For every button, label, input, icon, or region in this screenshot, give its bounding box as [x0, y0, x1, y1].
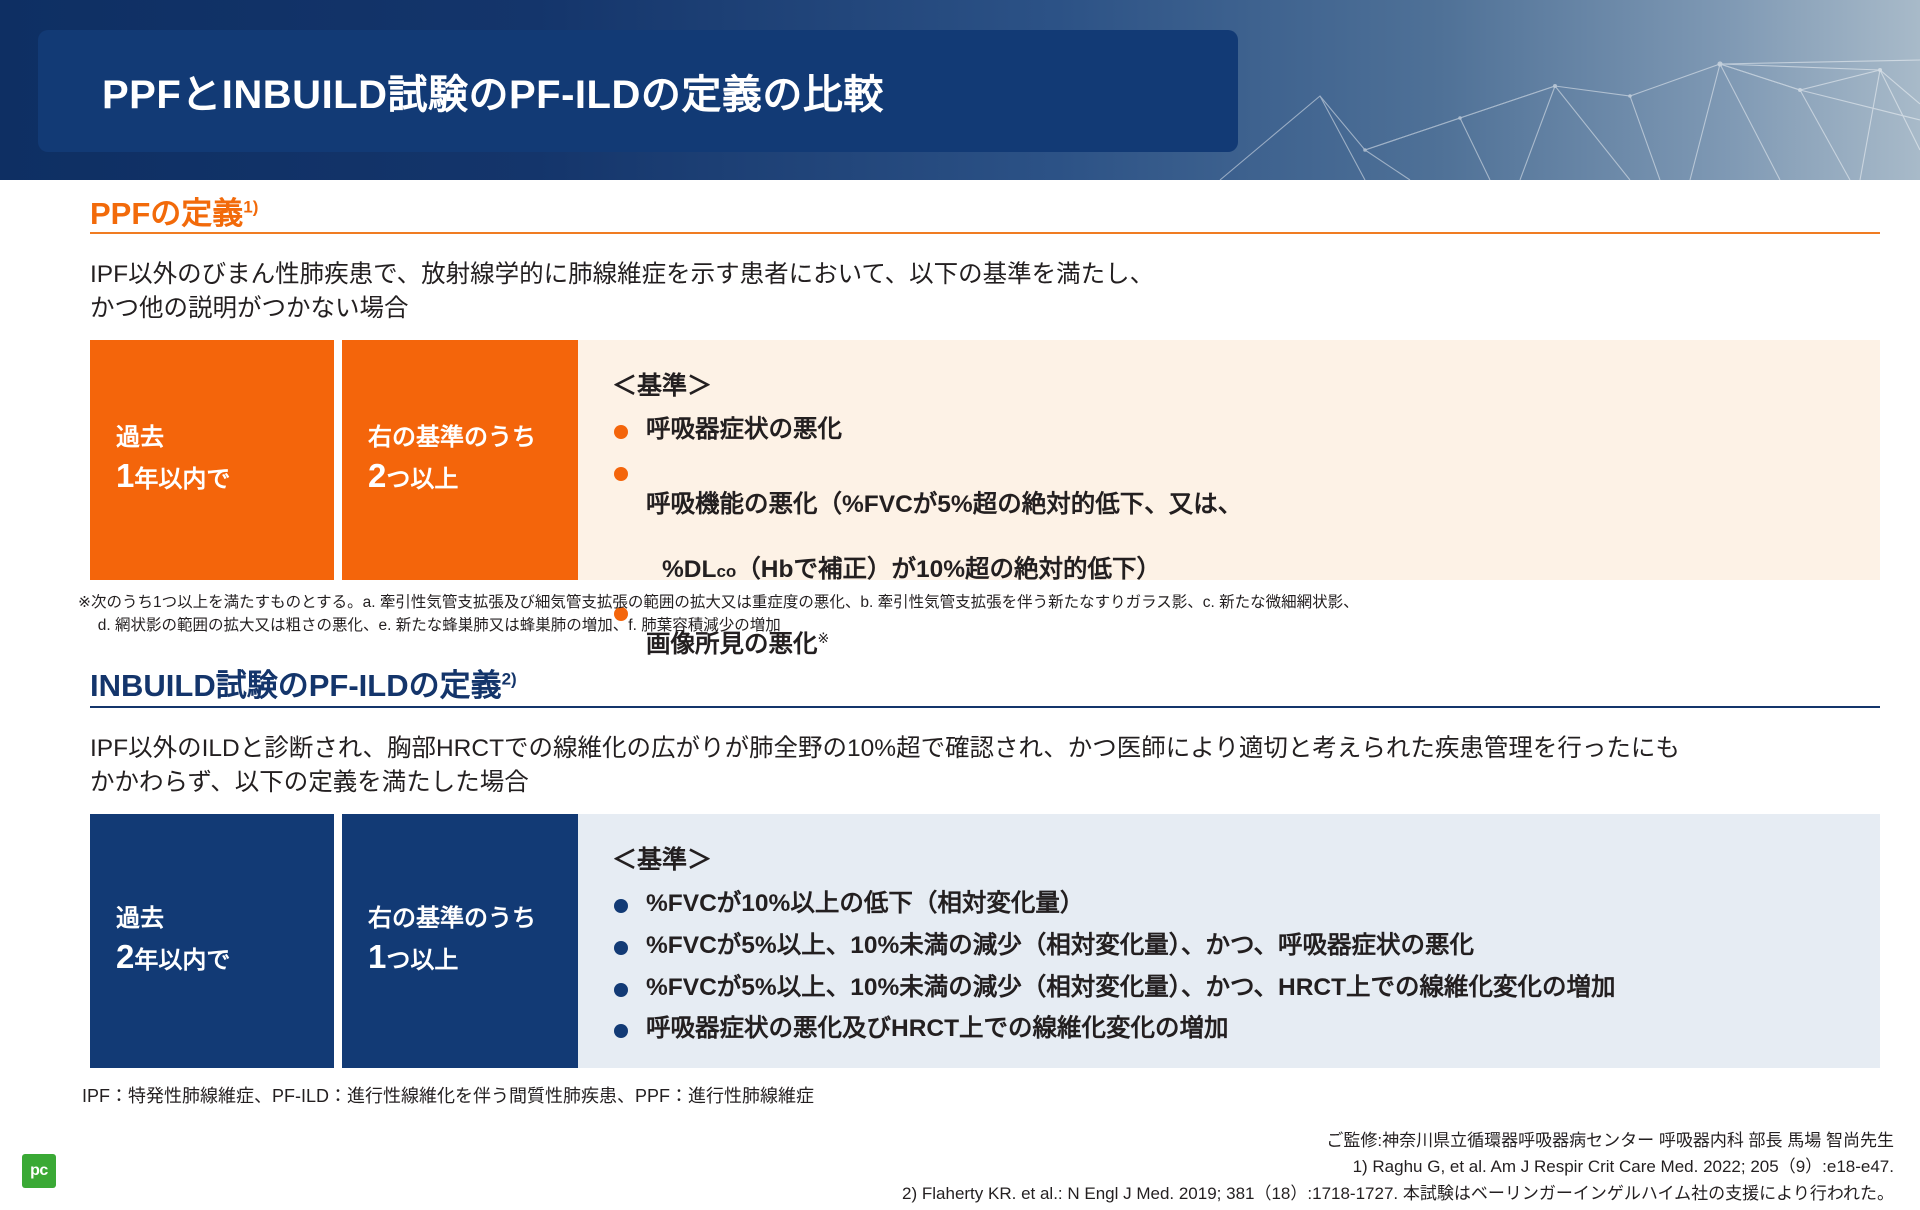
ppf-chip-count: 右の基準のうち 2つ以上	[342, 340, 578, 580]
ppf-criterion-2-line2: %DLco（Hbで補正）が10%超の絶対的低下）	[646, 554, 1161, 587]
inbuild-chip-period: 過去 2年以内で	[90, 814, 334, 1068]
ppf-chip-count-line1: 右の基準のうち	[368, 422, 578, 454]
ppf-criteria-title: ＜基準＞	[612, 366, 1880, 402]
ppf-chip-period-line2: 1年以内で	[116, 454, 334, 498]
references-block: ご監修:神奈川県立循環器呼吸器病センター 呼吸器内科 部長 馬場 智尚先生 1)…	[902, 1128, 1894, 1207]
company-logo-text: pc	[30, 1162, 48, 1180]
company-logo: pc	[22, 1154, 56, 1188]
inbuild-chip-period-number: 2	[116, 938, 134, 975]
ppf-lead-text: IPF以外のびまん性肺疾患で、放射線学的に肺線維症を示す患者において、以下の基準…	[90, 258, 1390, 326]
ppf-chip-count-number: 2	[368, 457, 386, 494]
ppf-section-heading: PPFの定義1)	[90, 188, 258, 233]
inbuild-heading-superscript: 2)	[502, 670, 517, 689]
page-title: PPFとINBUILD試験のPF-ILDの定義の比較	[102, 62, 884, 120]
inbuild-chip-count-unit: つ以上	[386, 947, 458, 974]
inbuild-criterion-4: 呼吸器症状の悪化及びHRCT上での線維化変化の増加	[612, 1013, 1880, 1046]
ppf-criterion-2-line1: 呼吸機能の悪化（%FVCが5%超の絶対的低下、又は、	[646, 491, 1242, 518]
network-pattern-decoration	[1160, 0, 1920, 180]
inbuild-criterion-3: %FVCが5%以上、10%未満の減少（相対変化量）、かつ、HRCT上での線維化変…	[612, 972, 1880, 1005]
inbuild-chip-period-line1: 過去	[116, 903, 334, 935]
ppf-chip-period-line1: 過去	[116, 422, 334, 454]
ppf-chip-count-line2: 2つ以上	[368, 454, 578, 498]
ppf-criteria-panel: ＜基準＞ 呼吸器症状の悪化 呼吸機能の悪化（%FVCが5%超の絶対的低下、又は、…	[578, 340, 1880, 580]
inbuild-criteria-panel: ＜基準＞ %FVCが10%以上の低下（相対変化量） %FVCが5%以上、10%未…	[578, 814, 1880, 1068]
reference-2: 2) Flaherty KR. et al.: N Engl J Med. 20…	[902, 1181, 1894, 1207]
inbuild-chip-count-line2: 1つ以上	[368, 935, 578, 979]
inbuild-lead-text: IPF以外のILDと診断され、胸部HRCTでの線維化の広がりが肺全野の10%超で…	[90, 732, 1890, 800]
inbuild-heading-text: INBUILD試験のPF-ILDの定義	[90, 668, 502, 703]
reference-1: 1) Raghu G, et al. Am J Respir Crit Care…	[902, 1154, 1894, 1180]
inbuild-heading-rule	[90, 706, 1880, 708]
header-band: PPFとINBUILD試験のPF-ILDの定義の比較	[0, 0, 1920, 180]
ppf-chip-period-number: 1	[116, 457, 134, 494]
inbuild-criterion-1: %FVCが10%以上の低下（相対変化量）	[612, 888, 1880, 921]
ppf-chip-period-unit: 年以内で	[134, 466, 230, 493]
inbuild-chip-count-line1: 右の基準のうち	[368, 903, 578, 935]
ppf-chip-count-unit: つ以上	[386, 466, 458, 493]
inbuild-chip-period-unit: 年以内で	[134, 947, 230, 974]
ppf-heading-superscript: 1)	[243, 198, 258, 217]
inbuild-chip-count-number: 1	[368, 938, 386, 975]
inbuild-criteria-title: ＜基準＞	[612, 840, 1880, 876]
ppf-chip-period: 過去 1年以内で	[90, 340, 334, 580]
ppf-heading-text: PPFの定義	[90, 196, 243, 231]
inbuild-section-heading: INBUILD試験のPF-ILDの定義2)	[90, 660, 517, 705]
abbreviations-note: IPF：特発性肺線維症、PF-ILD：進行性線維化を伴う間質性肺疾患、PPF：進…	[82, 1082, 814, 1108]
ppf-heading-rule	[90, 232, 1880, 234]
ppf-criterion-2: 呼吸機能の悪化（%FVCが5%超の絶対的低下、又は、 %DLco（Hbで補正）が…	[612, 456, 1880, 587]
inbuild-chip-count: 右の基準のうち 1つ以上	[342, 814, 578, 1068]
reference-supervisor: ご監修:神奈川県立循環器呼吸器病センター 呼吸器内科 部長 馬場 智尚先生	[902, 1128, 1894, 1154]
slide-root: PPFとINBUILD試験のPF-ILDの定義の比較 PPFの定義1) IPF以…	[0, 0, 1920, 1210]
ppf-criterion-1: 呼吸器症状の悪化	[612, 414, 1880, 447]
inbuild-criteria-list: %FVCが10%以上の低下（相対変化量） %FVCが5%以上、10%未満の減少（…	[612, 888, 1880, 1046]
inbuild-chip-period-line2: 2年以内で	[116, 935, 334, 979]
inbuild-criterion-2: %FVCが5%以上、10%未満の減少（相対変化量）、かつ、呼吸器症状の悪化	[612, 930, 1880, 963]
ppf-footnote: ※次のうち1つ以上を満たすものとする。a. 牽引性気管支拡張及び細気管支拡張の範…	[78, 592, 1868, 638]
